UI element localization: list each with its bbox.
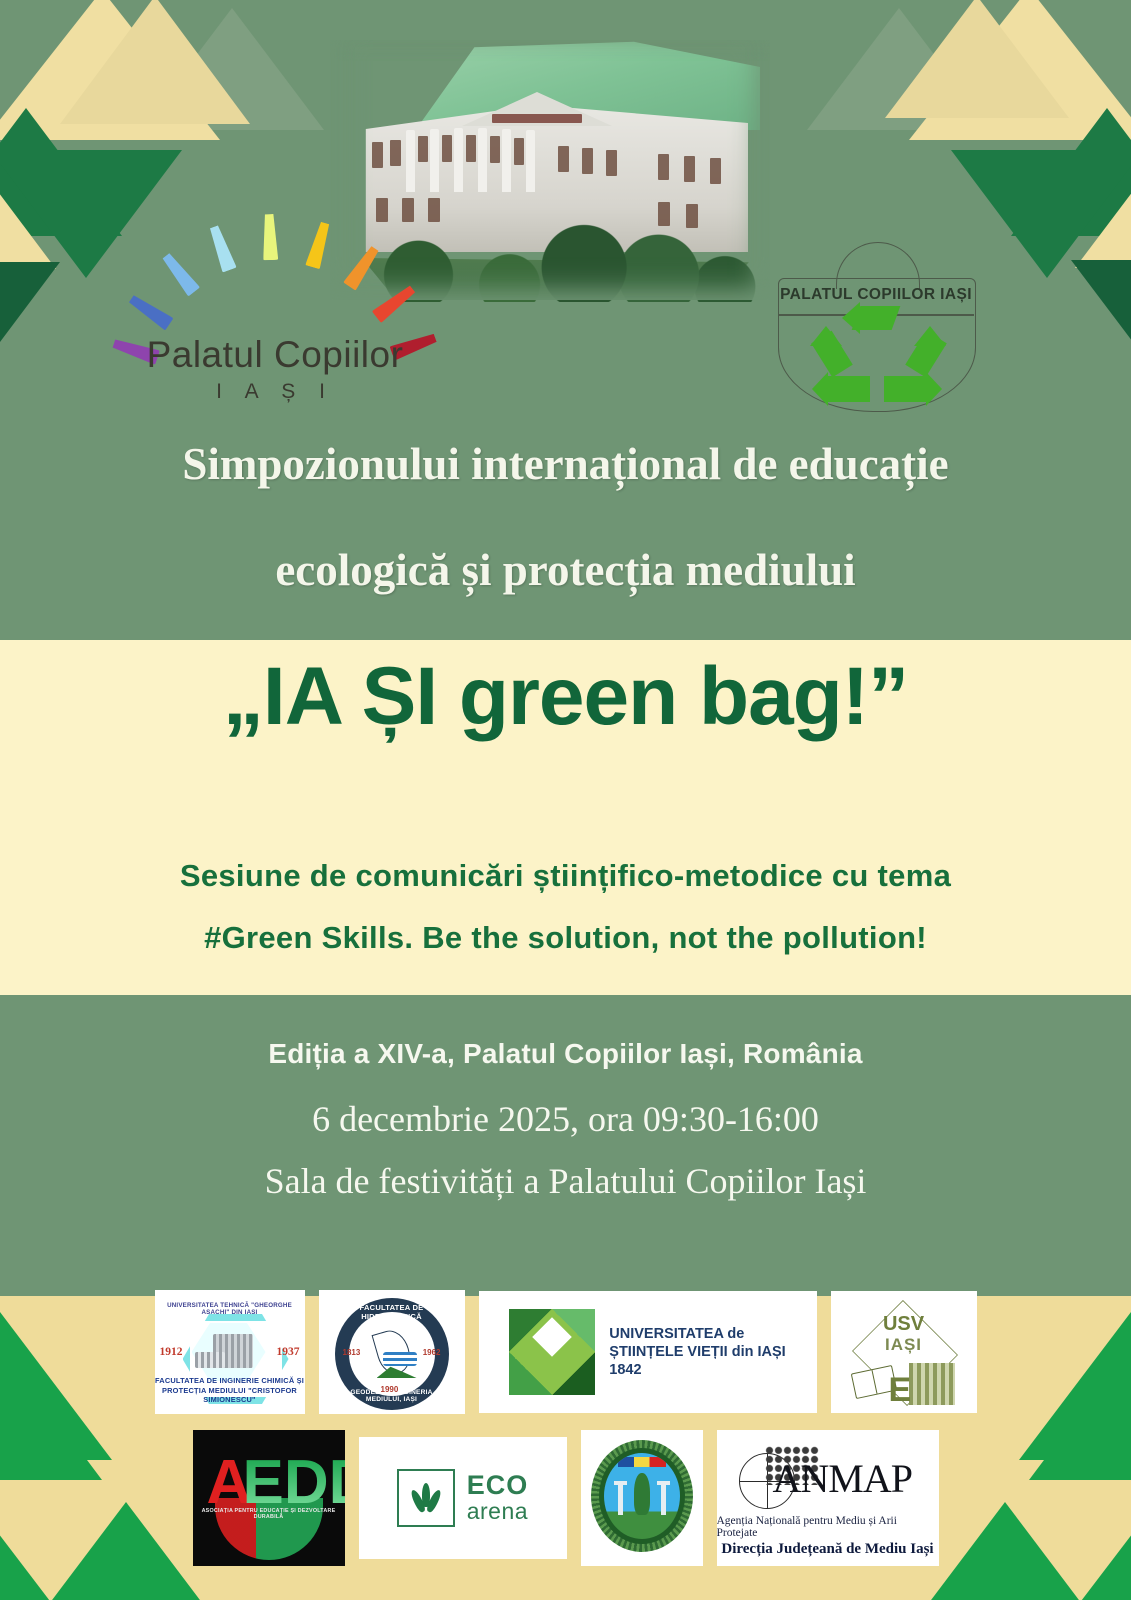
decorative-triangle-right-darkgreen xyxy=(1071,260,1131,366)
building-column xyxy=(430,129,439,192)
building-icon xyxy=(909,1363,955,1405)
logo1-arc-top: UNIVERSITATEA TEHNICĂ "GHEORGHE ASACHI" … xyxy=(155,1302,305,1316)
water-wave-icon xyxy=(383,1352,417,1366)
partner-logo-hidrotehnica: FACULTATEA DE HIDROTEHNICĂ GEODEZIE ȘI I… xyxy=(319,1290,465,1414)
bag-label: PALATUL COPIILOR IAȘI xyxy=(778,286,974,304)
partner-logo-eco-arena: ECO arena xyxy=(359,1437,567,1559)
building-window xyxy=(710,158,721,184)
symposium-heading-line1: Simpozionului internațional de educație xyxy=(0,432,1131,498)
decorative-triangle-top-right-gold-2 xyxy=(885,0,1069,118)
building-window xyxy=(558,146,569,172)
building-window xyxy=(466,135,476,162)
tree-icon xyxy=(634,1473,650,1515)
theme-line1: Sesiune de comunicări științifico-metodi… xyxy=(0,858,1131,894)
partner-logo-inginerie-chimica: UNIVERSITATEA TEHNICĂ "GHEORGHE ASACHI" … xyxy=(155,1290,305,1414)
venue-line: Sala de festivități a Palatului Copiilor… xyxy=(0,1160,1131,1202)
building-window xyxy=(490,136,500,163)
anmap-subtitle-1: Agenția Națională pentru Mediu și Arii P… xyxy=(717,1515,939,1539)
logo4-letter: E xyxy=(889,1373,912,1407)
decorative-triangle-right-gold xyxy=(1075,162,1131,268)
leaf-icon xyxy=(412,1483,440,1515)
building-window xyxy=(442,135,452,162)
plant-building-icon-2 xyxy=(195,1352,225,1368)
logo3-text-block: UNIVERSITATEA de ȘTIINȚELE VIEȚII din IA… xyxy=(609,1326,785,1377)
datetime-line: 6 decembrie 2025, ora 09:30-16:00 xyxy=(0,1098,1131,1140)
column-icon-right xyxy=(661,1483,666,1515)
anmap-mark: ANMAP xyxy=(717,1439,939,1513)
partner-logo-row-1: UNIVERSITATEA TEHNICĂ "GHEORGHE ASACHI" … xyxy=(0,1288,1131,1416)
brand-subtitle: I A Ș I xyxy=(130,380,420,404)
building-window xyxy=(418,136,428,162)
logo3-line1: UNIVERSITATEA de xyxy=(609,1326,785,1344)
partner-logo-row-2: A EDD ASOCIAȚIA PENTRU EDUCAȚIE ȘI DEZVO… xyxy=(0,1428,1131,1568)
logo4-line2: IAȘI xyxy=(831,1335,977,1355)
logo1-arc-bottom: FACULTATEA DE INGINERIE CHIMICĂ ȘI PROTE… xyxy=(155,1376,305,1404)
partner-logo-anmap: ANMAP Agenția Națională pentru Mediu și … xyxy=(717,1430,939,1566)
main-title: „IA ȘI green bag!” xyxy=(0,650,1131,744)
logo3-line2: ȘTIINȚELE VIEȚII din IAȘI xyxy=(609,1344,785,1362)
building-column xyxy=(526,130,535,192)
building-column xyxy=(478,128,487,192)
building-column xyxy=(454,128,463,192)
partner-logo-aedd: A EDD ASOCIAȚIA PENTRU EDUCAȚIE ȘI DEZVO… xyxy=(193,1430,345,1566)
symposium-heading-line2: ecologică și protecția mediului xyxy=(0,538,1131,604)
decorative-triangle-left-darkgreen xyxy=(0,262,60,366)
poster-root: Palatul Copiilor I A Ș I PALATUL COPIILO… xyxy=(0,0,1131,1600)
building-window xyxy=(684,156,695,182)
logo1-year-left: 1912 xyxy=(160,1346,183,1358)
anmap-subtitle-2: Direcția Județeană de Mediu Iași xyxy=(721,1541,933,1558)
logo2-arc-top: FACULTATEA DE HIDROTEHNICĂ xyxy=(335,1303,449,1321)
anmap-wordmark: ANMAP xyxy=(773,1459,912,1499)
logo4-line1: USV xyxy=(831,1313,977,1336)
decorative-triangle-left-gold xyxy=(0,165,56,269)
building-window xyxy=(658,154,669,180)
theme-line2: #Green Skills. Be the solution, not the … xyxy=(0,920,1131,956)
partner-logo-usv-iasi: USV IAȘI E xyxy=(831,1291,977,1413)
building-window xyxy=(372,142,383,168)
column-cap-right xyxy=(657,1481,670,1485)
romanian-flag-icon xyxy=(618,1457,666,1467)
building-window xyxy=(606,150,617,176)
seal-field-icon xyxy=(604,1453,680,1539)
building-column xyxy=(406,130,415,192)
decorative-triangle-top-left-gold-2 xyxy=(60,0,250,124)
eco-text-block: ECO arena xyxy=(467,1472,529,1524)
aedd-rest: EDD xyxy=(243,1452,345,1514)
logo3-year: 1842 xyxy=(609,1362,785,1378)
palatul-copiilor-logo: Palatul Copiilor I A Ș I xyxy=(130,228,420,408)
life-sciences-mark-icon xyxy=(509,1309,595,1395)
building-column xyxy=(502,129,511,192)
column-cap-left xyxy=(614,1481,627,1485)
edition-line: Ediția a XIV-a, Palatul Copiilor Iași, R… xyxy=(0,1038,1131,1070)
building-window xyxy=(582,148,593,174)
partner-logo-county-seal xyxy=(581,1430,703,1566)
logo2-year-bottom: 1990 xyxy=(381,1385,399,1394)
aedd-subtitle: ASOCIAȚIA PENTRU EDUCAȚIE ȘI DEZVOLTARE … xyxy=(201,1508,337,1520)
eco-line1: ECO xyxy=(467,1472,529,1499)
green-bag-recycling-logo: PALATUL COPIILOR IAȘI xyxy=(770,248,985,416)
eco-leaf-frame-icon xyxy=(397,1469,455,1527)
partner-logo-stiintele-vietii: UNIVERSITATEA de ȘTIINȚELE VIEȚII din IA… xyxy=(479,1291,817,1413)
building-window xyxy=(390,140,401,166)
building-window xyxy=(514,138,524,165)
logo2-year-right: 1962 xyxy=(423,1348,441,1357)
logo2-year-left: 1813 xyxy=(343,1348,361,1357)
brand-title: Palatul Copiilor xyxy=(130,334,420,376)
logo1-year-right: 1937 xyxy=(277,1346,300,1358)
recycling-icon xyxy=(806,304,948,410)
rainbow-fan-icon xyxy=(168,228,368,348)
eco-line2: arena xyxy=(467,1499,529,1524)
column-icon-left xyxy=(618,1483,623,1515)
building-sign xyxy=(492,114,582,123)
diamond-accent-icon xyxy=(532,1317,572,1357)
